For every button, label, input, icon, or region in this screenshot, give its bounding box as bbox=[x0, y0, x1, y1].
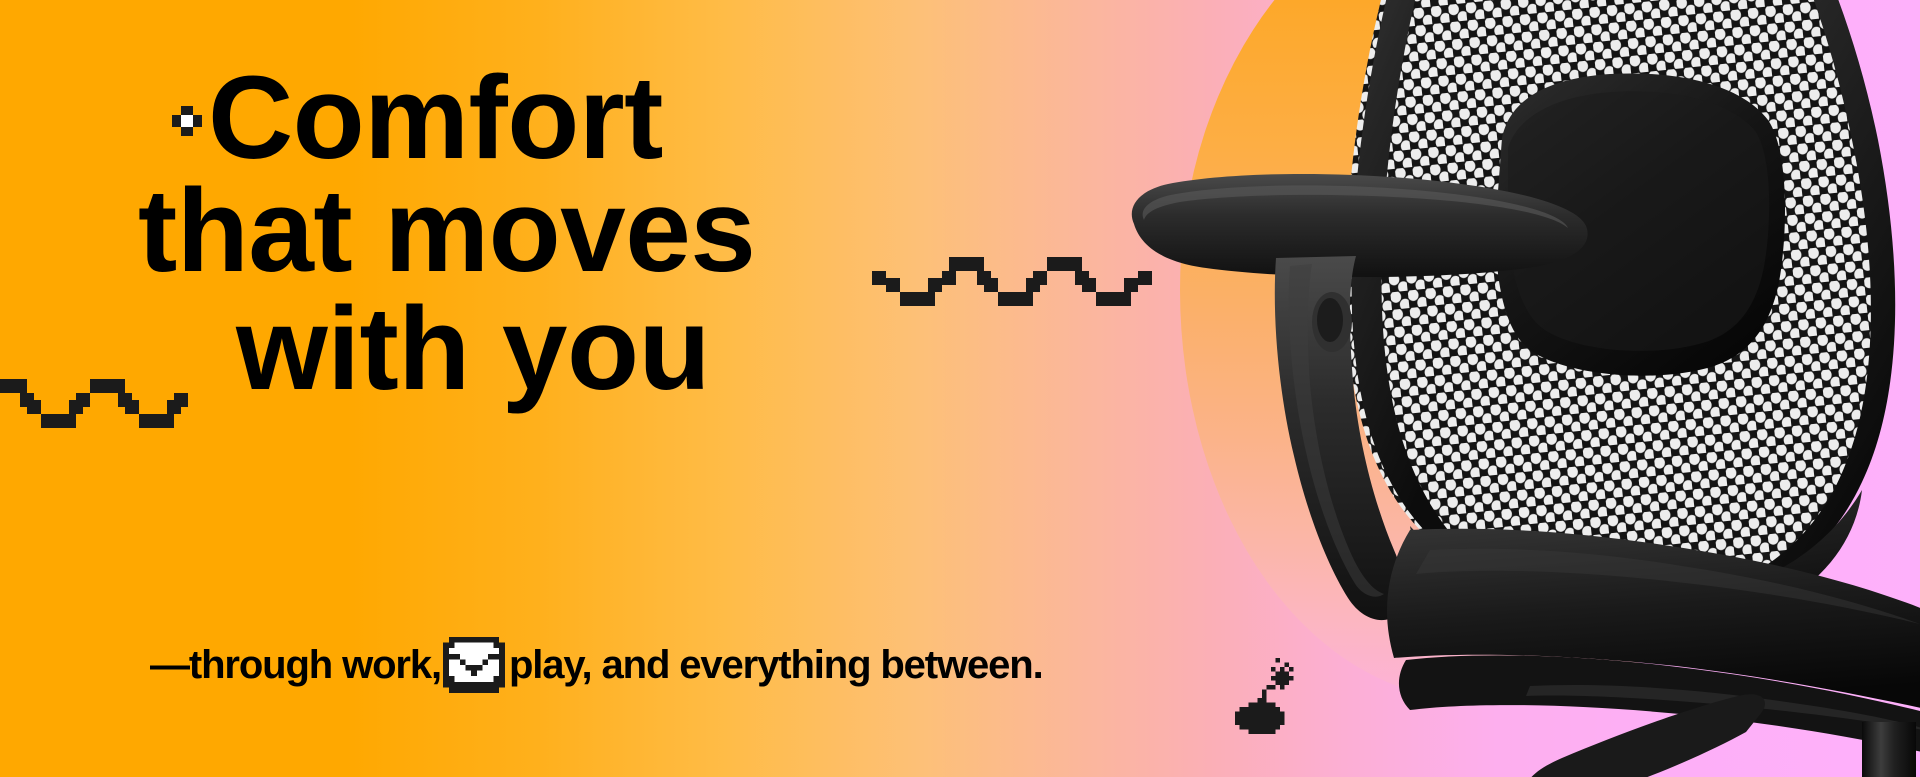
pixel-wave-icon bbox=[0, 372, 216, 435]
sparkle-plus-icon bbox=[172, 106, 202, 136]
subtitle-text-after-icon: play, and everything between. bbox=[509, 645, 1043, 685]
headline-line-2: that moves bbox=[138, 175, 755, 288]
pixel-wave-icon bbox=[872, 250, 1166, 313]
headline-line-1: Comfort bbox=[160, 62, 755, 175]
hero-banner: Comfort that moves with you —through wor… bbox=[0, 0, 1920, 777]
pixel-bomb-icon bbox=[1226, 658, 1298, 734]
headline-line-3: with you bbox=[160, 293, 755, 406]
subtitle-text-before-icon: —through work, bbox=[150, 645, 441, 685]
pixel-envelope-icon bbox=[443, 637, 505, 693]
hero-subtitle: —through work, bbox=[150, 637, 1043, 693]
hero-headline: Comfort that moves with you bbox=[160, 62, 755, 406]
